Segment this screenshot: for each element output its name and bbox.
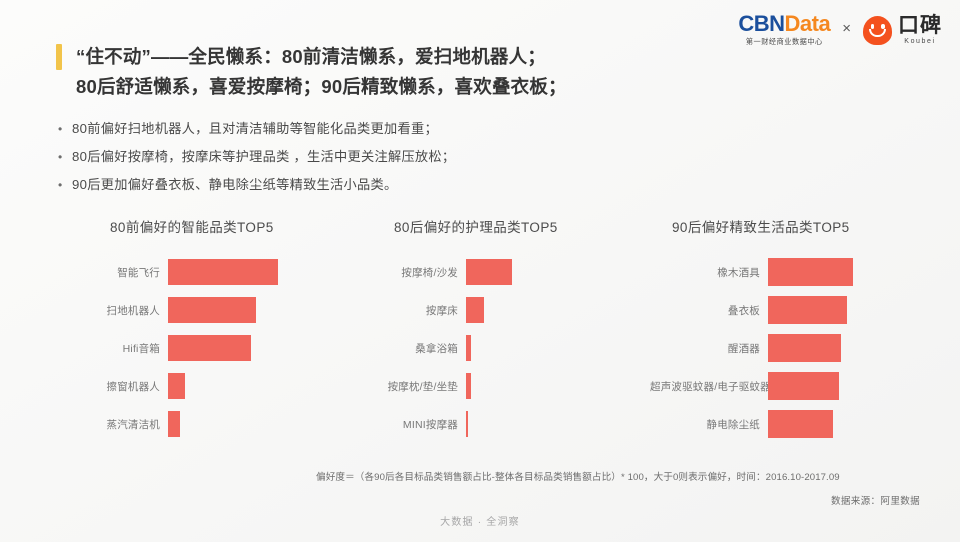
chart-title: 90后偏好精致生活品类TOP5: [672, 216, 853, 236]
bar: [466, 259, 512, 285]
bar: [168, 259, 278, 285]
table-row: 擦窗机器人: [96, 367, 278, 405]
chart-footnote: 偏好度＝（各90后各目标品类销售额占比-整体各目标品类销售额占比）* 100，大…: [316, 469, 840, 483]
bar-label: 叠衣板: [650, 303, 768, 318]
bar: [168, 373, 185, 399]
table-row: 按摩枕/垫/坐垫: [384, 367, 558, 405]
table-row: 静电除尘纸: [650, 405, 853, 443]
footer-tagline: 大数据 · 全洞察: [0, 513, 960, 528]
charts-region: 80前偏好的智能品类TOP5 智能飞行 扫地机器人 Hifi音箱 擦窗机器人: [0, 216, 960, 441]
cbndata-subtitle: 第一财经商业数据中心: [746, 37, 823, 47]
cbndata-wordmark: CBNData: [738, 13, 830, 35]
bar: [466, 335, 471, 361]
bar: [768, 334, 841, 362]
chart-title: 80前偏好的智能品类TOP5: [110, 216, 278, 236]
bullet-text: 90后更加偏好叠衣板、静电除尘纸等精致生活小品类。: [72, 174, 397, 193]
cbndata-logo: CBNData 第一财经商业数据中心: [738, 13, 830, 47]
chart-care-categories: 80后偏好的护理品类TOP5 按摩椅/沙发 按摩床 桑拿浴箱 按摩枕/垫/坐垫: [384, 216, 558, 443]
title-text: “住不动”——全民懒系：80前清洁懒系，爱扫地机器人； 80后舒适懒系，喜爱按摩…: [76, 42, 567, 102]
title-line-2: 80后舒适懒系，喜爱按摩椅；90后精致懒系，喜欢叠衣板；: [76, 72, 567, 102]
brand-separator-x-icon: ×: [841, 20, 852, 37]
bullet-list: • 80前偏好扫地机器人，且对清洁辅助等智能化品类更加看重； • 80后偏好按摩…: [58, 118, 455, 202]
bar: [466, 411, 468, 437]
bar-label: Hifi音箱: [96, 341, 168, 356]
bar-label: 按摩椅/沙发: [384, 265, 466, 280]
table-row: 超声波驱蚊器/电子驱蚊器: [650, 367, 853, 405]
smiley-mouth: [869, 29, 886, 37]
bar-label: 静电除尘纸: [650, 417, 768, 432]
brand-lockup: CBNData 第一财经商业数据中心 × 口碑 Koubei: [738, 13, 942, 47]
title-line-1: “住不动”——全民懒系：80前清洁懒系，爱扫地机器人；: [76, 42, 567, 72]
bar: [768, 372, 839, 400]
bar: [466, 373, 471, 399]
koubei-logo: 口碑 Koubei: [863, 15, 942, 45]
bar-label: 按摩床: [384, 303, 466, 318]
table-row: 智能飞行: [96, 253, 278, 291]
table-row: 橡木酒具: [650, 253, 853, 291]
table-row: 叠衣板: [650, 291, 853, 329]
bar-label: MINI按摩器: [384, 417, 466, 432]
smiley-eye-right: [881, 24, 884, 29]
bar: [768, 296, 847, 324]
chart-smart-categories: 80前偏好的智能品类TOP5 智能飞行 扫地机器人 Hifi音箱 擦窗机器人: [96, 216, 278, 443]
cbndata-wordmark-prefix: CBN: [738, 11, 784, 36]
bar: [768, 410, 833, 438]
chart-bars: 橡木酒具 叠衣板 醒酒器 超声波驱蚊器/电子驱蚊器 静电除尘纸: [650, 253, 853, 443]
bar-label: 桑拿浴箱: [384, 341, 466, 356]
table-row: 按摩床: [384, 291, 558, 329]
table-row: 桑拿浴箱: [384, 329, 558, 367]
bullet-dot-icon: •: [58, 123, 72, 135]
table-row: 扫地机器人: [96, 291, 278, 329]
bar-label: 橡木酒具: [650, 265, 768, 280]
chart-refined-life-categories: 90后偏好精致生活品类TOP5 橡木酒具 叠衣板 醒酒器 超声波驱蚊器/电子驱蚊…: [650, 216, 853, 443]
data-source: 数据来源：阿里数据: [831, 493, 920, 507]
bar-label: 智能飞行: [96, 265, 168, 280]
bar: [168, 411, 180, 437]
table-row: MINI按摩器: [384, 405, 558, 443]
bullet-dot-icon: •: [58, 151, 72, 163]
table-row: Hifi音箱: [96, 329, 278, 367]
table-row: 按摩椅/沙发: [384, 253, 558, 291]
bar-label: 扫地机器人: [96, 303, 168, 318]
smiley-eye-left: [871, 24, 874, 29]
list-item: • 90后更加偏好叠衣板、静电除尘纸等精致生活小品类。: [58, 174, 455, 193]
bar-label: 按摩枕/垫/坐垫: [384, 379, 466, 394]
bar: [168, 335, 251, 361]
slide-root: CBNData 第一财经商业数据中心 × 口碑 Koubei “住不动”——全民…: [0, 0, 960, 542]
bar-label: 醒酒器: [650, 341, 768, 356]
bar: [768, 258, 853, 286]
cbndata-wordmark-suffix: Data: [785, 11, 831, 36]
bar-label: 超声波驱蚊器/电子驱蚊器: [650, 379, 768, 394]
koubei-wordmark: 口碑 Koubei: [898, 15, 942, 45]
bar: [168, 297, 256, 323]
table-row: 醒酒器: [650, 329, 853, 367]
koubei-name-cn: 口碑: [898, 15, 942, 36]
chart-bars: 智能飞行 扫地机器人 Hifi音箱 擦窗机器人 蒸汽清洁机: [96, 253, 278, 443]
chart-title: 80后偏好的护理品类TOP5: [394, 216, 558, 236]
bar-label: 擦窗机器人: [96, 379, 168, 394]
koubei-smiley-icon: [863, 16, 892, 45]
table-row: 蒸汽清洁机: [96, 405, 278, 443]
koubei-name-en: Koubei: [904, 38, 935, 45]
bullet-dot-icon: •: [58, 179, 72, 191]
bullet-text: 80前偏好扫地机器人，且对清洁辅助等智能化品类更加看重；: [72, 118, 438, 137]
title-accent-bar: [56, 44, 62, 70]
bullet-text: 80后偏好按摩椅，按摩床等护理品类 ，生活中更关注解压放松；: [72, 146, 455, 165]
page-title: “住不动”——全民懒系：80前清洁懒系，爱扫地机器人； 80后舒适懒系，喜爱按摩…: [56, 42, 567, 102]
list-item: • 80后偏好按摩椅，按摩床等护理品类 ，生活中更关注解压放松；: [58, 146, 455, 165]
list-item: • 80前偏好扫地机器人，且对清洁辅助等智能化品类更加看重；: [58, 118, 455, 137]
chart-bars: 按摩椅/沙发 按摩床 桑拿浴箱 按摩枕/垫/坐垫 MINI按摩器: [384, 253, 558, 443]
bar: [466, 297, 484, 323]
bar-label: 蒸汽清洁机: [96, 417, 168, 432]
